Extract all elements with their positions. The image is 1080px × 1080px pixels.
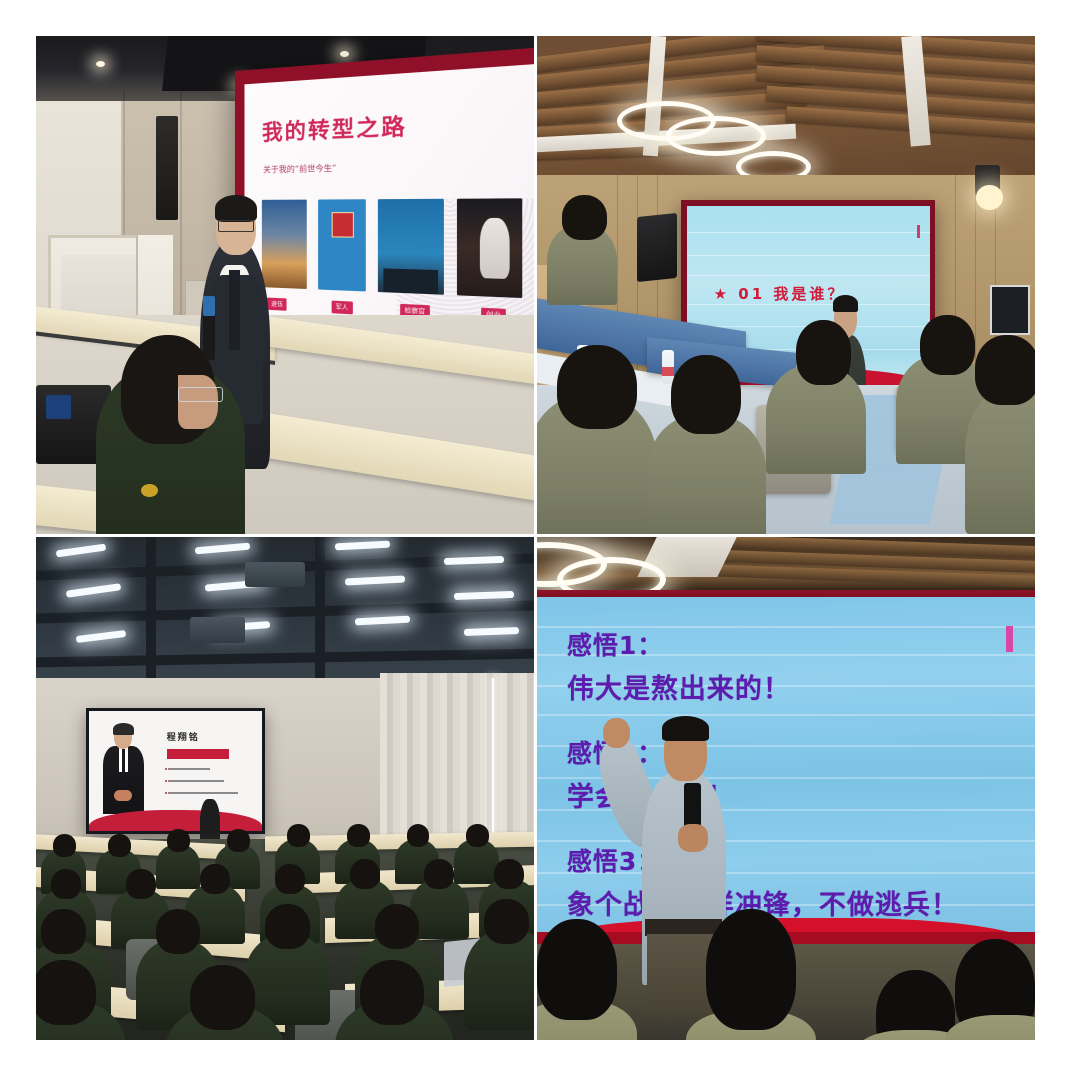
audience-member xyxy=(965,385,1035,534)
panel-blue-slide-three-insights: 感悟1： 伟大是熬出来的！ 感悟2： 学会抱大腿！ 感悟3： 象个战士一样冲锋，… xyxy=(537,537,1035,1040)
audience-head xyxy=(375,904,420,949)
thumbnail-building xyxy=(378,199,444,294)
audience-head xyxy=(347,824,370,847)
audience-head xyxy=(484,899,529,944)
air-conditioner-vent xyxy=(190,617,245,642)
audience-head xyxy=(466,824,489,847)
audience-head xyxy=(53,834,76,857)
audience-head xyxy=(126,869,156,899)
audience-head xyxy=(287,824,310,847)
audience-head xyxy=(167,829,190,852)
panel-seminar-room-who-am-i-slide: ★ 01 我是谁？ xyxy=(537,36,1035,534)
slide-surface: 程翔铭 xyxy=(89,711,262,831)
audience-head xyxy=(562,195,607,240)
slide-caption-chip: 军人 xyxy=(331,300,352,314)
slide-title: 我的转型之路 xyxy=(262,109,407,147)
audience-head xyxy=(265,904,310,949)
thumbnail-interview xyxy=(457,199,522,298)
audience-head xyxy=(360,960,425,1025)
slide-red-wave xyxy=(89,810,262,830)
projection-screen-frame: 程翔铭 xyxy=(86,708,265,834)
audience-head xyxy=(975,335,1035,405)
ceiling-beam xyxy=(315,537,325,678)
audience-head xyxy=(51,869,81,899)
audience-head xyxy=(41,909,86,954)
slide-bullet-dot xyxy=(165,768,167,770)
portrait-tie xyxy=(122,749,125,771)
air-conditioner-vent xyxy=(245,562,305,587)
wall-speaker xyxy=(637,213,677,282)
slide-bullet-dot xyxy=(165,780,167,782)
audience-head xyxy=(424,859,454,889)
portrait-hair xyxy=(113,723,134,735)
audience-member xyxy=(464,929,534,1030)
foreground-attendee-head xyxy=(706,909,796,1030)
insight-1-text: 伟大是熬出来的！ xyxy=(567,667,1005,706)
ring-pendant-light xyxy=(666,116,766,156)
audience-head xyxy=(920,315,975,375)
slide-portrait xyxy=(101,723,146,816)
audience-head xyxy=(108,834,131,857)
audience-head xyxy=(671,355,741,435)
audience-head xyxy=(494,859,524,889)
foreground-attendee-head xyxy=(537,919,617,1020)
side-monitor xyxy=(990,285,1030,335)
slide-subtitle: 关于我的“前世今生” xyxy=(263,163,336,176)
portrait-hands xyxy=(114,790,132,801)
insight-3-text: 象个战士一样冲锋，不做逃兵！ xyxy=(567,883,1005,922)
audience-head xyxy=(407,824,430,847)
audience-head xyxy=(275,864,305,894)
uniform-badge xyxy=(141,484,158,497)
presenter-hair xyxy=(833,295,858,312)
slide-corner-marker xyxy=(917,225,920,238)
camera-indicator xyxy=(46,395,71,420)
photo-collage-grid: 我的转型之路 关于我的“前世今生” 退伍 军人 检察官 创业 xyxy=(36,36,1044,1040)
curtain-light-strip xyxy=(492,678,494,849)
microphone-icon xyxy=(203,315,215,360)
thumbnail-certificate xyxy=(318,200,366,292)
presenter-hair xyxy=(215,195,257,222)
insight-3-label: 感悟3： xyxy=(567,842,1005,878)
audience-head xyxy=(36,960,96,1025)
presenter-mic-hand xyxy=(678,824,708,852)
slide-title: 程翔铭 xyxy=(167,730,200,743)
audience-head xyxy=(200,864,230,894)
audience-head xyxy=(190,965,255,1030)
slide-accent-bar xyxy=(167,749,229,759)
slide-corner-marker xyxy=(1006,626,1013,652)
panel-large-auditorium-wide-shot: 程翔铭 xyxy=(36,537,534,1040)
slide-thumbnail-row xyxy=(262,198,534,299)
slide-bullet-line xyxy=(168,768,210,770)
downlight-icon xyxy=(340,51,349,57)
slide-caption-chip: 退伍 xyxy=(267,297,287,310)
insight-1-label: 感悟1： xyxy=(567,626,1005,662)
water-bottle xyxy=(662,350,674,384)
presenter-tie xyxy=(229,270,240,350)
audience-head xyxy=(557,345,637,430)
panel-lecture-hall-transformation-slide: 我的转型之路 关于我的“前世今生” 退伍 军人 检察官 创业 xyxy=(36,36,534,534)
audience-head xyxy=(156,909,201,954)
ceiling-beam xyxy=(146,537,156,678)
slide-bullet-line xyxy=(168,780,223,782)
presenter-hair xyxy=(662,716,710,741)
presenter-glasses xyxy=(218,220,254,232)
slide-bullet-line xyxy=(168,792,237,794)
thumbnail-sunset xyxy=(262,200,307,289)
presenter-raised-hand xyxy=(603,718,630,748)
foreground-attendee-glasses xyxy=(178,387,223,402)
slide-heading: ★ 01 我是谁？ xyxy=(714,283,846,304)
audience-head xyxy=(350,859,380,889)
wall-speaker xyxy=(156,116,178,221)
downlight-icon xyxy=(96,61,105,67)
audience-head xyxy=(796,320,851,385)
slide-bullet-dot xyxy=(165,792,167,794)
audience-head xyxy=(227,829,250,852)
fluorescent-tube-light xyxy=(464,627,519,636)
